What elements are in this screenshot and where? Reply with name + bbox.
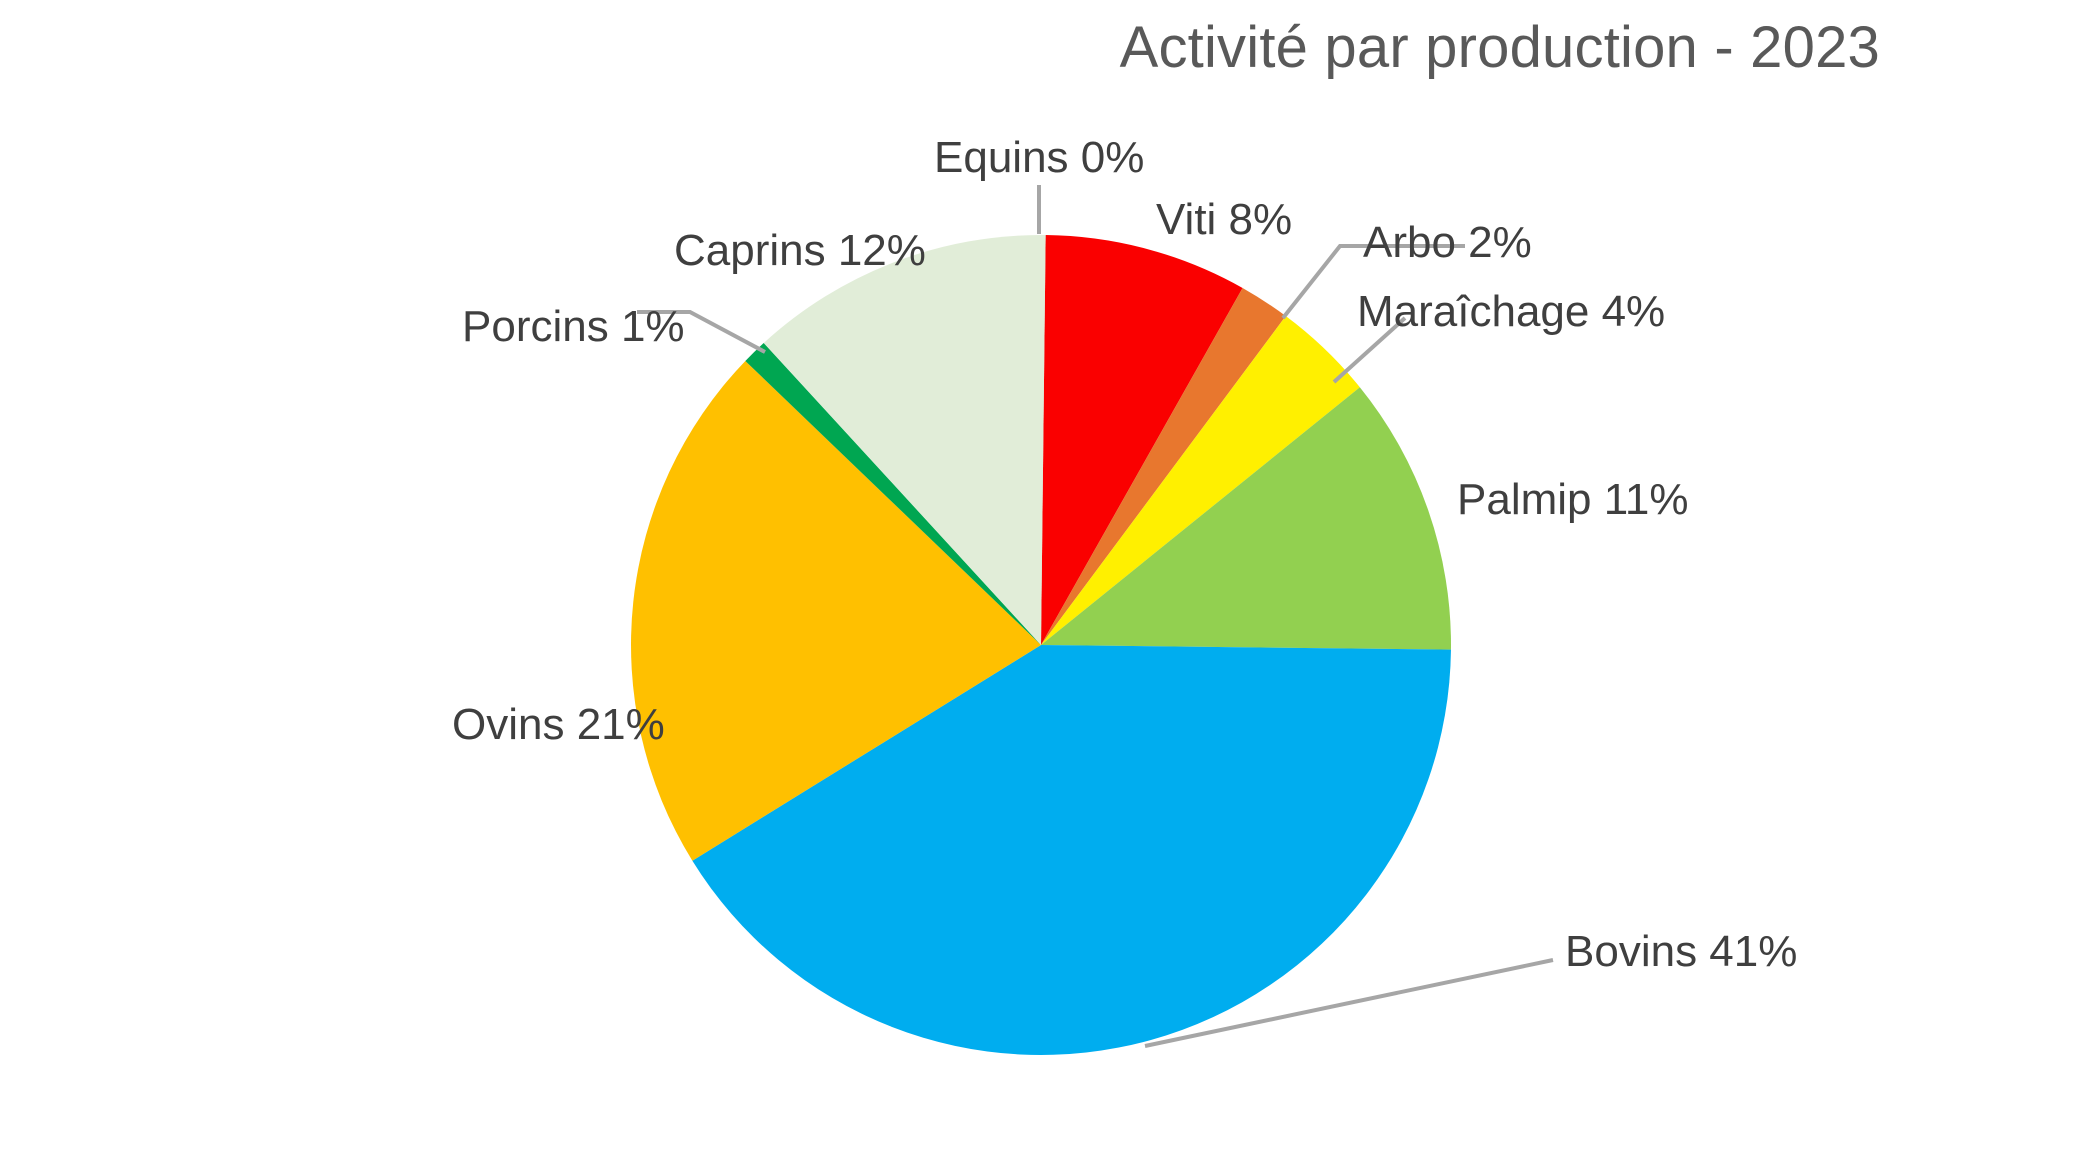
slice-label-ovins: Ovins 21% — [452, 703, 665, 747]
slice-label-bovins: Bovins 41% — [1565, 930, 1797, 974]
chart-canvas: Activité par production - 2023 Equins 0%… — [0, 0, 2079, 1175]
slice-label-viti: Viti 8% — [1156, 198, 1292, 242]
pie-slice-group — [631, 235, 1451, 1055]
slice-label-caprins: Caprins 12% — [674, 229, 926, 273]
slice-label-arbo: Arbo 2% — [1363, 221, 1532, 265]
slice-label-porcins: Porcins 1% — [462, 305, 685, 349]
slice-label-palmip: Palmip 11% — [1457, 478, 1689, 522]
slice-label-maraichage: Maraîchage 4% — [1357, 290, 1665, 334]
slice-label-equins: Equins 0% — [934, 136, 1144, 180]
